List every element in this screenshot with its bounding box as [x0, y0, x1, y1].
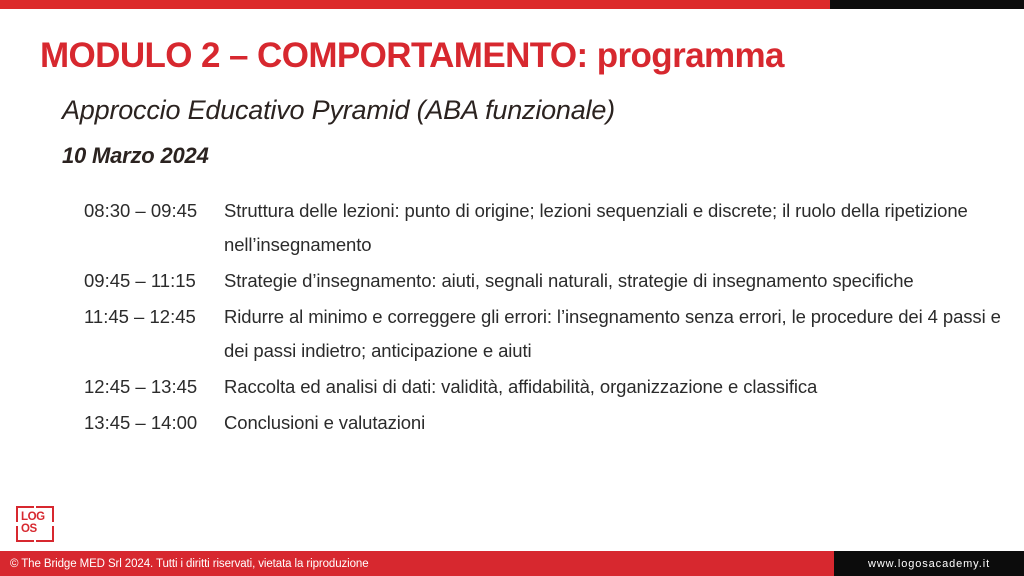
- schedule-row: 13:45 – 14:00 Conclusioni e valutazioni: [84, 406, 1004, 440]
- schedule-row: 11:45 – 12:45 Ridurre al minimo e correg…: [84, 300, 1004, 368]
- footer-bar: © The Bridge MED Srl 2024. Tutti i dirit…: [0, 551, 1024, 576]
- schedule-row: 12:45 – 13:45 Raccolta ed analisi di dat…: [84, 370, 1004, 404]
- schedule-row-time: 09:45 – 11:15: [84, 264, 224, 298]
- session-date: 10 Marzo 2024: [62, 143, 209, 169]
- schedule-row: 08:30 – 09:45 Struttura delle lezioni: p…: [84, 194, 1004, 262]
- schedule-row-description: Raccolta ed analisi di dati: validità, a…: [224, 370, 1004, 404]
- schedule-list: 08:30 – 09:45 Struttura delle lezioni: p…: [84, 194, 1004, 442]
- top-accent-bar-black: [830, 0, 1024, 9]
- schedule-row-time: 08:30 – 09:45: [84, 194, 224, 228]
- schedule-row-time: 13:45 – 14:00: [84, 406, 224, 440]
- schedule-row-description: Struttura delle lezioni: punto di origin…: [224, 194, 1004, 262]
- top-accent-bar-red: [0, 0, 830, 9]
- schedule-row: 09:45 – 11:15 Strategie d’insegnamento: …: [84, 264, 1004, 298]
- footer-website-text: www.logosacademy.it: [868, 558, 990, 570]
- footer-website-section: www.logosacademy.it: [834, 551, 1024, 576]
- footer-copyright-section: © The Bridge MED Srl 2024. Tutti i dirit…: [0, 551, 834, 576]
- top-accent-bar: [0, 0, 1024, 9]
- footer-copyright-text: © The Bridge MED Srl 2024. Tutti i dirit…: [0, 558, 369, 570]
- slide: MODULO 2 – COMPORTAMENTO: programma Appr…: [0, 0, 1024, 576]
- schedule-row-description: Conclusioni e valutazioni: [224, 406, 1004, 440]
- schedule-row-description: Strategie d’insegnamento: aiuti, segnali…: [224, 264, 1004, 298]
- logo-wordmark-line2: OS: [21, 524, 49, 536]
- page-title: MODULO 2 – COMPORTAMENTO: programma: [40, 37, 784, 76]
- logo-wordmark-line1: LOG: [21, 512, 49, 524]
- schedule-row-time: 11:45 – 12:45: [84, 300, 224, 334]
- schedule-row-time: 12:45 – 13:45: [84, 370, 224, 404]
- page-subtitle: Approccio Educativo Pyramid (ABA funzion…: [62, 95, 615, 126]
- schedule-row-description: Ridurre al minimo e correggere gli error…: [224, 300, 1004, 368]
- logo-wordmark: LOG OS: [21, 512, 49, 535]
- logos-logo-icon: LOG OS: [16, 506, 54, 542]
